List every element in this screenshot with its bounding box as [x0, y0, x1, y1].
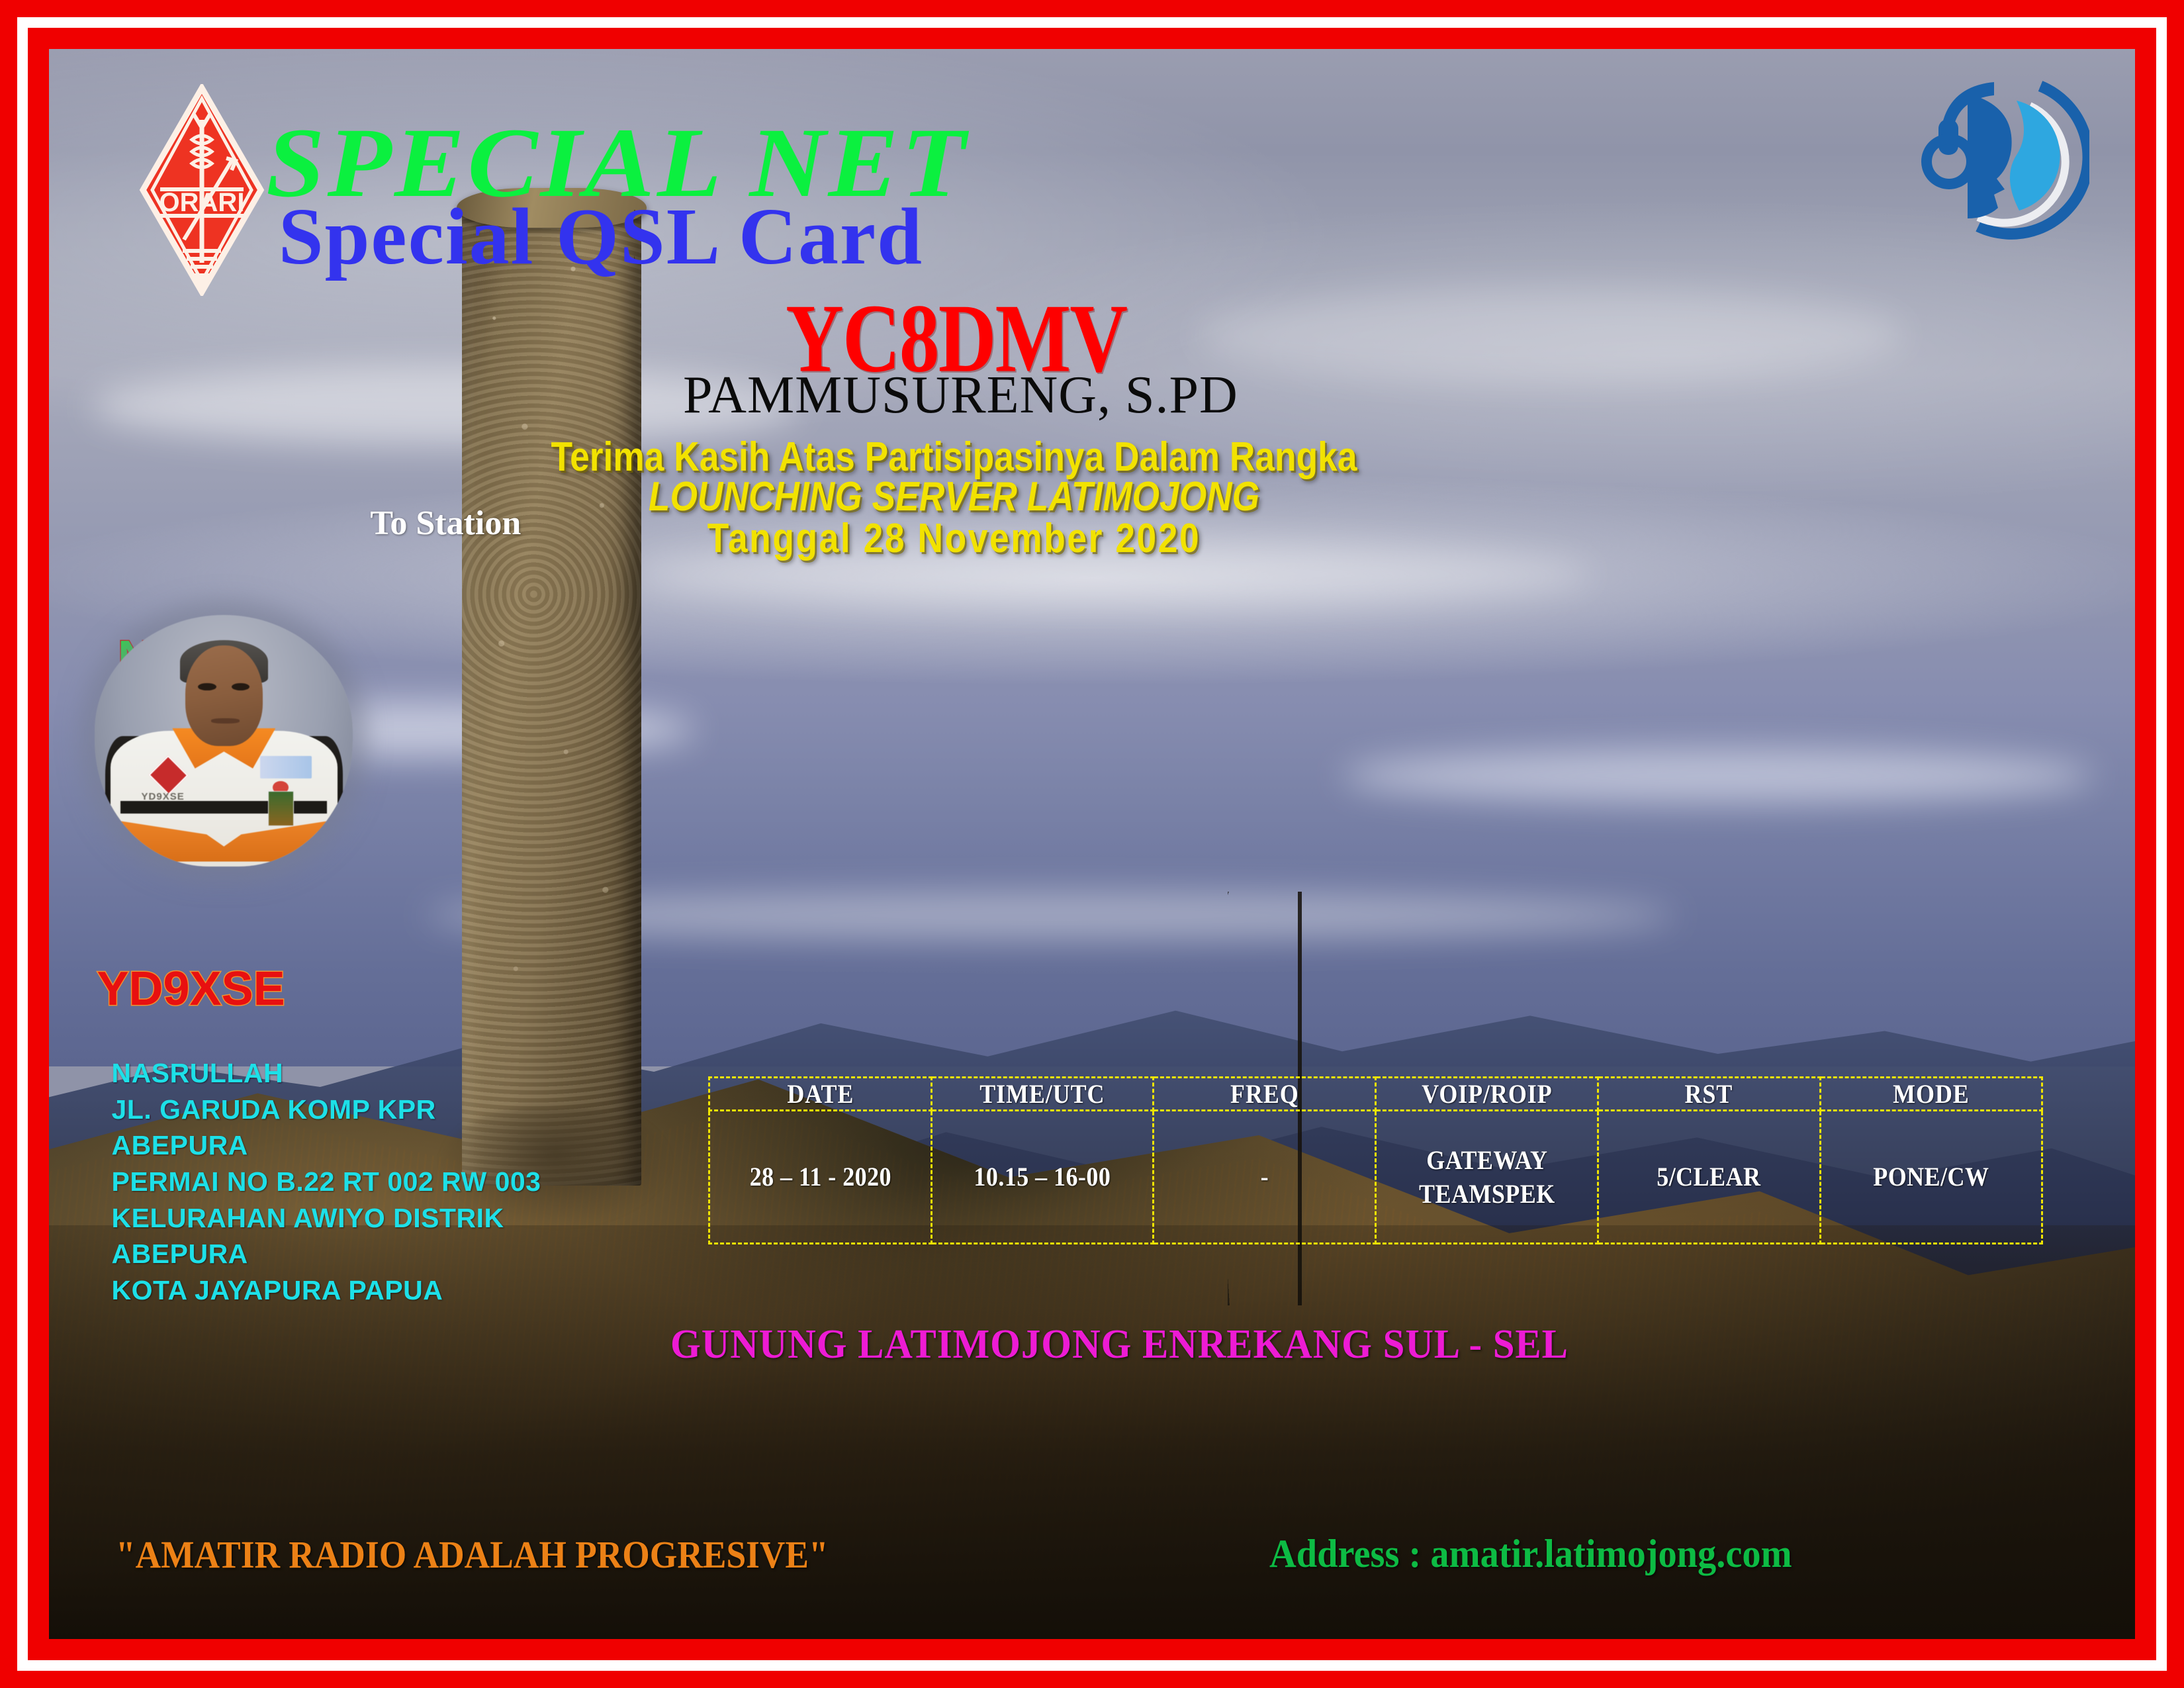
qsl-card-frame: ORARI SPECIAL NET Spe [0, 0, 2184, 1688]
operator-name: PAMMUSURENG, S.PD [449, 365, 1471, 426]
frame-white-gap: ORARI SPECIAL NET Spe [17, 17, 2167, 1671]
address-line: KELURAHAN AWIYO DISTRIK [112, 1200, 541, 1237]
frame-inner-red: ORARI SPECIAL NET Spe [28, 28, 2156, 1660]
cell-rst: 5/CLEAR [1609, 1110, 1809, 1244]
photo-mouth [211, 718, 240, 724]
page-subtitle: Special QSL Card [279, 191, 923, 283]
address-line: ABEPURA [112, 1127, 541, 1164]
address-line: KOTA JAYAPURA PAPUA [112, 1272, 541, 1309]
ncs-callsign: YD9XSE [97, 962, 285, 1016]
photo-belt [120, 801, 327, 814]
orari-logo-label: ORARI [159, 188, 244, 217]
footer-motto: "AMATIR RADIO ADALAH PROGRESIVE" [116, 1532, 829, 1577]
qso-log-table: DATE TIME/UTC FREQ VOIP/ROIP RST MODE 28… [708, 1076, 2043, 1245]
table-row: 28 – 11 - 2020 10.15 – 16-00 - GATEWAY T… [709, 1110, 2042, 1244]
address-line: NASRULLAH [112, 1055, 541, 1092]
location-text: GUNUNG LATIMOJONG ENREKANG SUL - SEL [670, 1321, 1569, 1368]
cell-voip-roip: GATEWAY TEAMSPEK [1387, 1110, 1586, 1244]
photo-face [185, 645, 263, 746]
table-header-row: DATE TIME/UTC FREQ VOIP/ROIP RST MODE [709, 1077, 2042, 1110]
photo-shirt-callsign: YD9XSE [142, 791, 185, 802]
event-name: LOUNCHING SERVER LATIMOJONG [488, 473, 1421, 520]
address-line: ABEPURA [112, 1236, 541, 1272]
orari-logo: ORARI [139, 84, 265, 296]
event-date: Tanggal 28 November 2020 [488, 515, 1421, 562]
cell-time-utc: 10.15 – 16-00 [942, 1110, 1142, 1244]
ncs-operator-photo: YD9XSE [95, 615, 353, 867]
column-header-date: DATE [720, 1077, 920, 1110]
address-line: JL. GARUDA KOMP KPR [112, 1092, 541, 1128]
cell-date: 28 – 11 - 2020 [720, 1110, 920, 1244]
card-background-photo: ORARI SPECIAL NET Spe [49, 49, 2135, 1639]
sender-address-block: NASRULLAH JL. GARUDA KOMP KPR ABEPURA PE… [112, 1055, 541, 1308]
cell-voip-roip-line1: GATEWAY [1388, 1143, 1586, 1177]
column-header-voip-roip: VOIP/ROIP [1387, 1077, 1586, 1110]
column-header-rst: RST [1609, 1077, 1809, 1110]
headset-face-logo [1917, 74, 2089, 240]
footer-web-address: Address : amatir.latimojong.com [1269, 1531, 1792, 1577]
cell-mode: PONE/CW [1831, 1110, 2031, 1244]
cell-freq: - [1165, 1110, 1365, 1244]
photo-eye-left [198, 683, 216, 690]
cell-voip-roip-line2: TEAMSPEK [1388, 1177, 1586, 1211]
address-line: PERMAI NO B.22 RT 002 RW 003 [112, 1164, 541, 1200]
column-header-mode: MODE [1831, 1077, 2031, 1110]
photo-badge-logo [260, 756, 312, 778]
column-header-time-utc: TIME/UTC [942, 1077, 1142, 1110]
column-header-freq: FREQ [1165, 1077, 1365, 1110]
photo-id-card [268, 791, 294, 826]
cloud-streak [1342, 749, 2093, 803]
